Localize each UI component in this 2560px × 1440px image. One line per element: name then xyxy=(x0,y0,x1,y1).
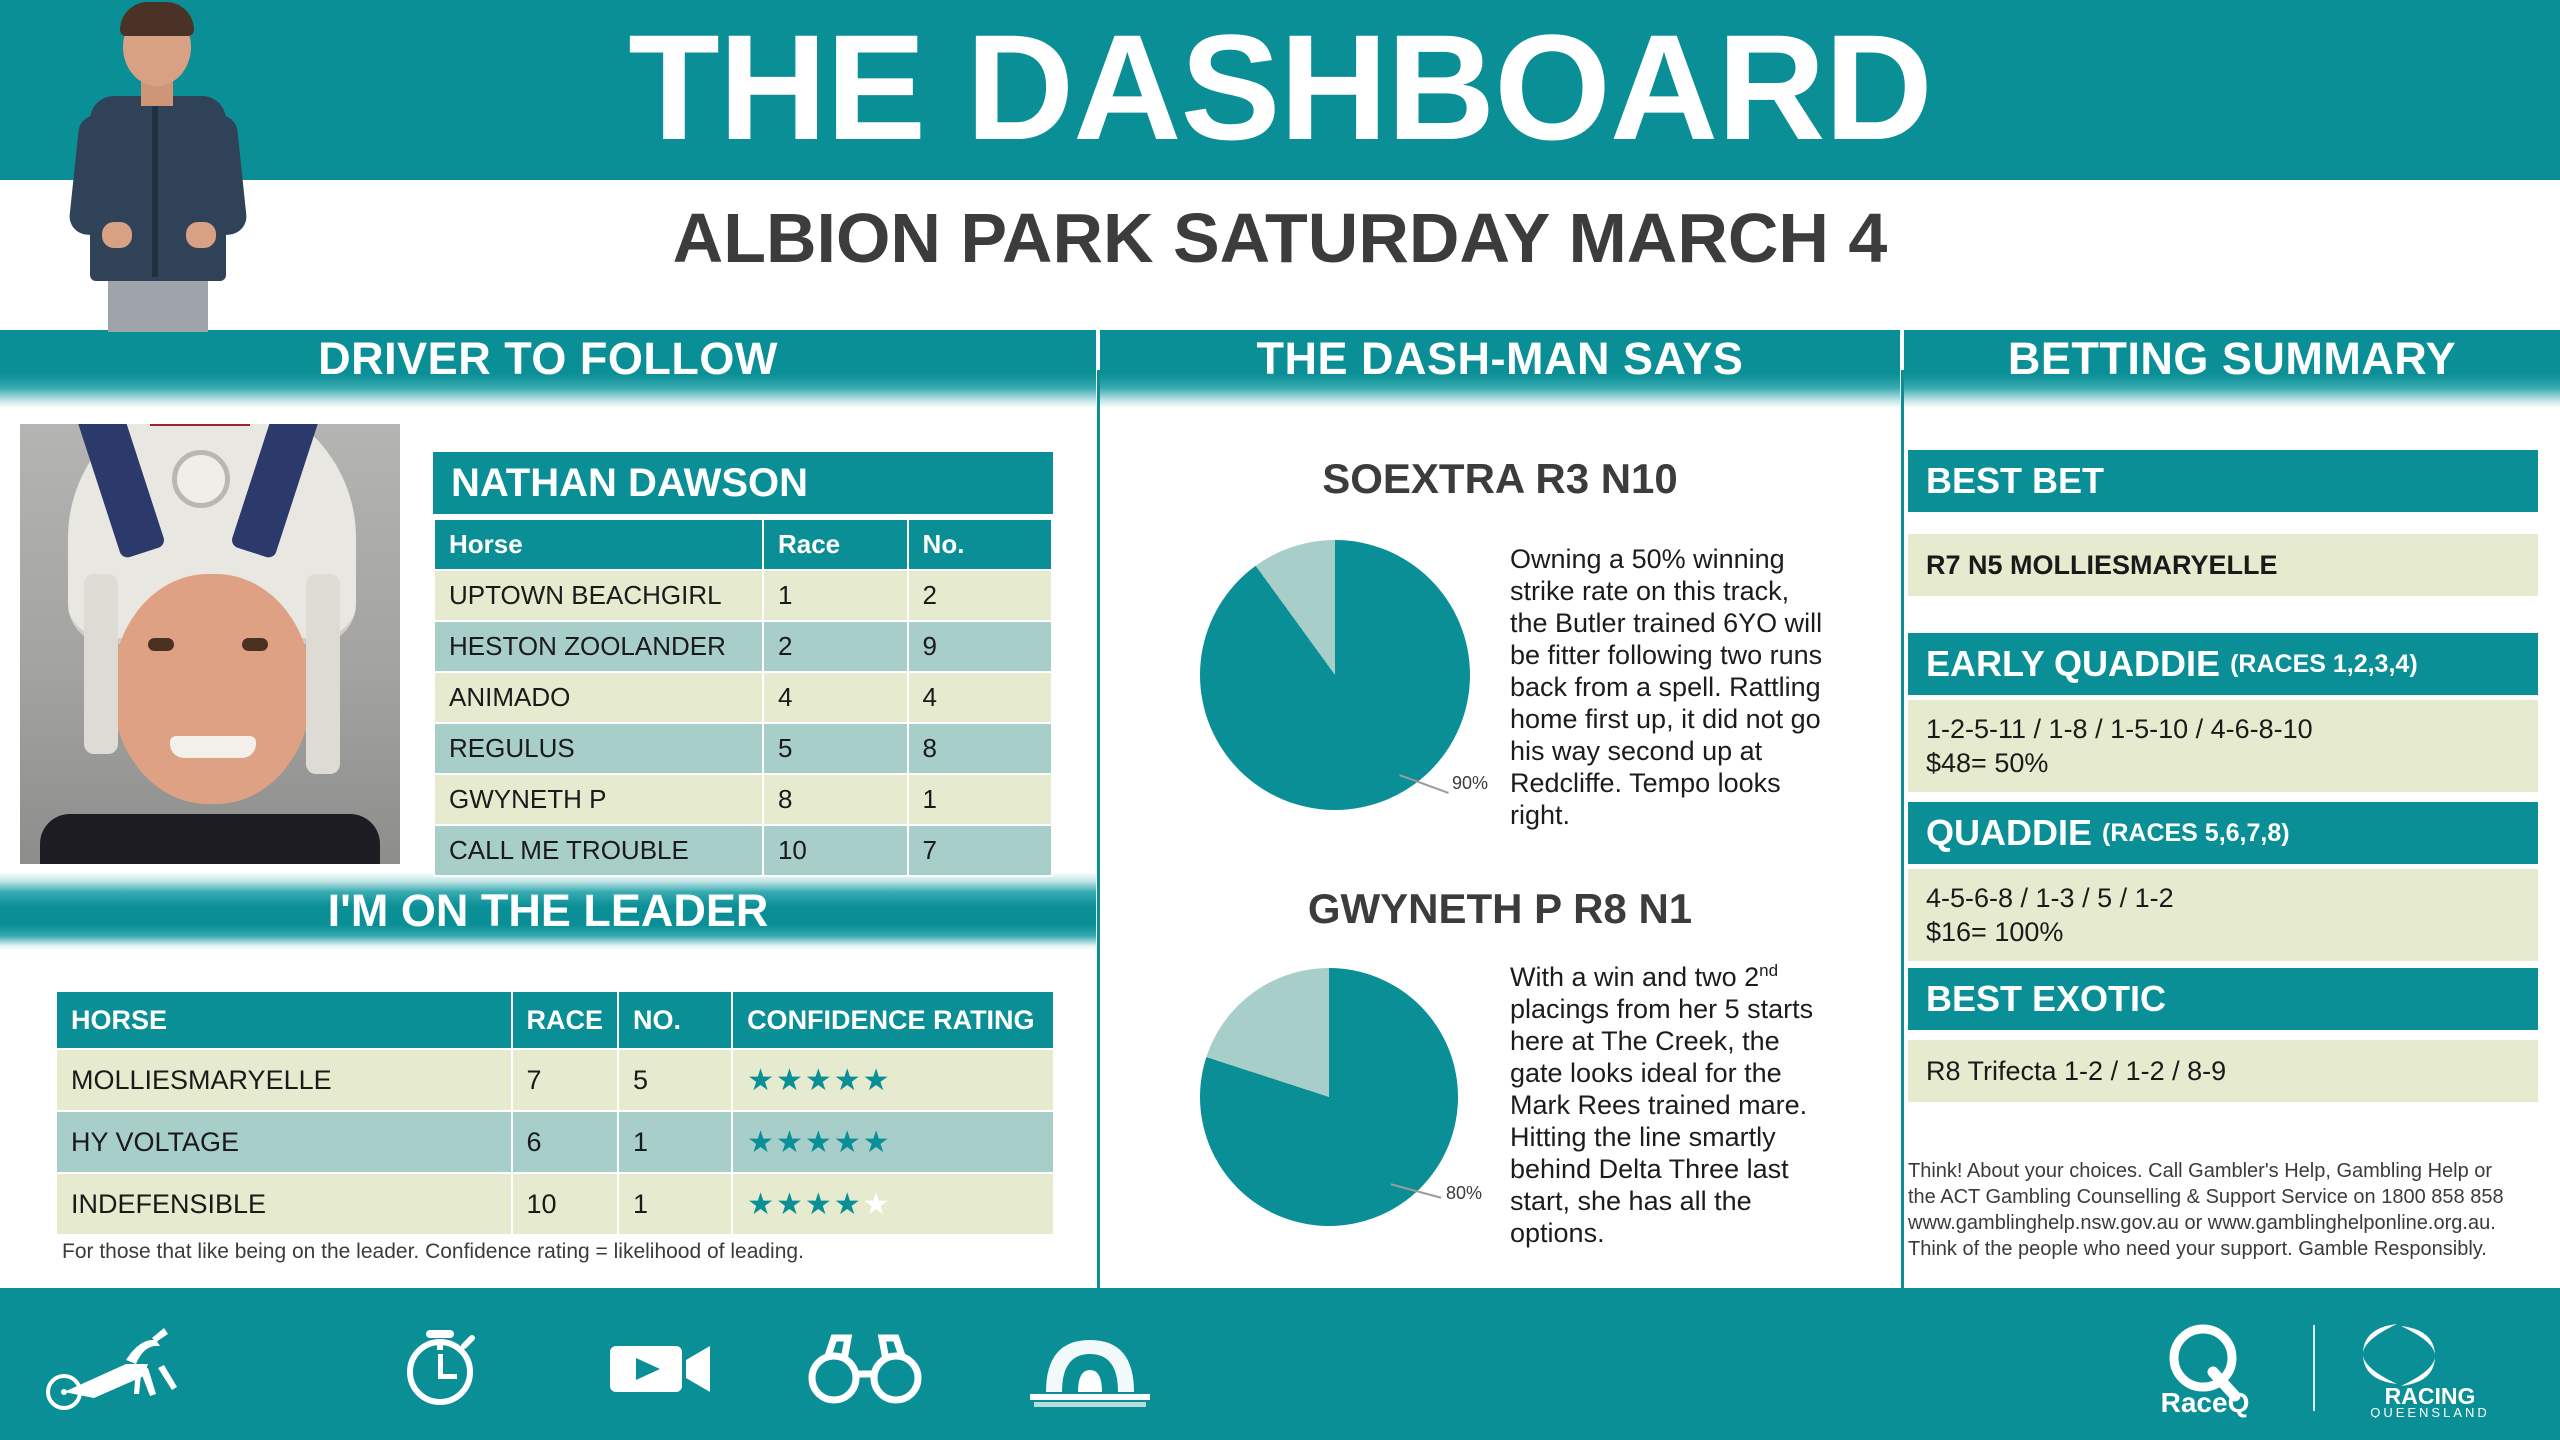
table-row: ANIMADO 4 4 xyxy=(434,672,1052,723)
pie-label-2: 80% xyxy=(1446,1183,1482,1204)
section-driver-to-follow: DRIVER TO FOLLOW xyxy=(0,330,1096,408)
binoculars-icon xyxy=(800,1320,930,1410)
quaddie-label: QUADDIE xyxy=(1926,812,2092,854)
harness-racing-icon xyxy=(40,1320,190,1410)
dashman-text-2: With a win and two 2nd placings from her… xyxy=(1510,955,1832,1249)
driver-horse: REGULUS xyxy=(434,723,763,774)
early-quaddie-line2: $48= 50% xyxy=(1926,746,2538,780)
svg-text:QUEENSLAND: QUEENSLAND xyxy=(2370,1405,2490,1418)
raceq-logo: RaceQ xyxy=(2105,1318,2305,1418)
disclaimer-line-4: Think of the people who need your suppor… xyxy=(1908,1236,2548,1262)
divider-right xyxy=(1901,370,1904,1288)
table-row: CALL ME TROUBLE 10 7 xyxy=(434,825,1052,876)
section-dash-man-says: THE DASH-MAN SAYS xyxy=(1100,330,1900,408)
leader-note: For those that like being on the leader.… xyxy=(62,1240,1062,1264)
driver-photo xyxy=(20,424,400,864)
driver-horse: UPTOWN BEACHGIRL xyxy=(434,570,763,621)
dashman-heading-2: GWYNETH P R8 N1 xyxy=(1120,885,1880,933)
leader-col-horse: HORSE xyxy=(56,991,512,1049)
best-bet-header: BEST BET xyxy=(1908,450,2538,512)
driver-race: 4 xyxy=(763,672,908,723)
early-quaddie-header: EARLY QUADDIE (RACES 1,2,3,4) xyxy=(1908,633,2538,695)
driver-race: 8 xyxy=(763,774,908,825)
leader-horse: MOLLIESMARYELLE xyxy=(56,1049,512,1111)
racing-queensland-logo: RACING QUEENSLAND xyxy=(2323,1318,2538,1418)
driver-horse: HESTON ZOOLANDER xyxy=(434,621,763,672)
early-quaddie-races: (RACES 1,2,3,4) xyxy=(2220,650,2418,679)
dashman-text-2a: With a win and two 2 xyxy=(1510,962,1759,992)
driver-horse: GWYNETH P xyxy=(434,774,763,825)
driver-horse: CALL ME TROUBLE xyxy=(434,825,763,876)
svg-text:RaceQ: RaceQ xyxy=(2161,1387,2250,1418)
page-title: THE DASHBOARD xyxy=(0,0,2560,182)
pie-chart-2 xyxy=(1200,968,1458,1226)
leader-race: 6 xyxy=(512,1111,619,1173)
section-title-betting: BETTING SUMMARY xyxy=(2008,330,2456,385)
table-row: HESTON ZOOLANDER 2 9 xyxy=(434,621,1052,672)
driver-col-no: No. xyxy=(908,519,1052,570)
pie-label-1: 90% xyxy=(1452,773,1488,794)
section-title-dashman: THE DASH-MAN SAYS xyxy=(1257,330,1744,385)
dashman-text-2-sup: nd xyxy=(1759,961,1778,980)
leader-horse: INDEFENSIBLE xyxy=(56,1173,512,1235)
presenter-photo xyxy=(68,0,248,330)
quaddie-header: QUADDIE (RACES 5,6,7,8) xyxy=(1908,802,2538,864)
dashboard-page: THE DASHBOARD ALBION PARK SATURDAY MARCH… xyxy=(0,0,2560,1440)
driver-race: 5 xyxy=(763,723,908,774)
dashman-text-2b: placings from her 5 starts here at The C… xyxy=(1510,994,1813,1248)
leader-table-header: HORSE RACE NO. CONFIDENCE RATING xyxy=(56,991,1054,1049)
grandstand-icon xyxy=(1020,1320,1160,1410)
table-row: MOLLIESMARYELLE 7 5 ★★★★★ xyxy=(56,1049,1054,1111)
driver-table-header: Horse Race No. xyxy=(434,519,1052,570)
video-camera-icon xyxy=(600,1320,720,1410)
driver-no: 1 xyxy=(908,774,1052,825)
driver-race: 2 xyxy=(763,621,908,672)
leader-col-race: RACE xyxy=(512,991,619,1049)
section-betting-summary: BETTING SUMMARY xyxy=(1904,330,2560,408)
early-quaddie-label: EARLY QUADDIE xyxy=(1926,643,2220,685)
table-row: HY VOLTAGE 6 1 ★★★★★ xyxy=(56,1111,1054,1173)
driver-no: 7 xyxy=(908,825,1052,876)
table-row: GWYNETH P 8 1 xyxy=(434,774,1052,825)
driver-col-race: Race xyxy=(763,519,908,570)
best-bet-value: R7 N5 MOLLIESMARYELLE xyxy=(1908,534,2538,596)
driver-race: 10 xyxy=(763,825,908,876)
early-quaddie-value: 1-2-5-11 / 1-8 / 1-5-10 / 4-6-8-10 $48= … xyxy=(1908,700,2538,792)
page-subtitle: ALBION PARK SATURDAY MARCH 4 xyxy=(0,188,2560,288)
leader-no: 1 xyxy=(618,1111,732,1173)
driver-no: 9 xyxy=(908,621,1052,672)
driver-horse: ANIMADO xyxy=(434,672,763,723)
confidence-stars: ★★★★★ xyxy=(747,1126,891,1159)
best-exotic-value: R8 Trifecta 1-2 / 1-2 / 8-9 xyxy=(1908,1040,2538,1102)
table-row: INDEFENSIBLE 10 1 ★★★★★ xyxy=(56,1173,1054,1235)
table-row: REGULUS 5 8 xyxy=(434,723,1052,774)
driver-name: NATHAN DAWSON xyxy=(433,452,1053,514)
early-quaddie-line1: 1-2-5-11 / 1-8 / 1-5-10 / 4-6-8-10 xyxy=(1926,712,2538,746)
confidence-stars: ★★★★★ xyxy=(747,1064,891,1097)
leader-col-no: NO. xyxy=(618,991,732,1049)
quaddie-line1: 4-5-6-8 / 1-3 / 5 / 1-2 xyxy=(1926,881,2538,915)
table-row: UPTOWN BEACHGIRL 1 2 xyxy=(434,570,1052,621)
driver-no: 8 xyxy=(908,723,1052,774)
leader-no: 1 xyxy=(618,1173,732,1235)
disclaimer-line-1: Think! About your choices. Call Gambler'… xyxy=(1908,1158,2548,1184)
quaddie-line2: $16= 100% xyxy=(1926,915,2538,949)
section-title-driver: DRIVER TO FOLLOW xyxy=(318,330,778,385)
leader-race: 7 xyxy=(512,1049,619,1111)
section-title-leader: I'M ON THE LEADER xyxy=(328,885,769,937)
pie-chart-1 xyxy=(1200,540,1470,810)
best-exotic-header: BEST EXOTIC xyxy=(1908,968,2538,1030)
dashman-text-1: Owning a 50% winning strike rate on this… xyxy=(1510,543,1832,831)
section-im-on-the-leader: I'M ON THE LEADER xyxy=(0,872,1096,950)
driver-table: Horse Race No. UPTOWN BEACHGIRL 1 2 HEST… xyxy=(433,518,1053,877)
gambling-disclaimer: Think! About your choices. Call Gambler'… xyxy=(1908,1158,2548,1262)
confidence-stars: ★★★★★ xyxy=(747,1188,891,1221)
stopwatch-icon xyxy=(390,1320,490,1410)
driver-no: 4 xyxy=(908,672,1052,723)
disclaimer-line-3: www.gamblinghelp.nsw.gov.au or www.gambl… xyxy=(1908,1210,2548,1236)
leader-no: 5 xyxy=(618,1049,732,1111)
best-bet-label: BEST BET xyxy=(1926,460,2104,502)
leader-horse: HY VOLTAGE xyxy=(56,1111,512,1173)
leader-race: 10 xyxy=(512,1173,619,1235)
divider-left xyxy=(1097,370,1100,1288)
quaddie-races: (RACES 5,6,7,8) xyxy=(2092,819,2290,848)
logo-divider xyxy=(2313,1325,2315,1411)
leader-table: HORSE RACE NO. CONFIDENCE RATING MOLLIES… xyxy=(55,990,1055,1236)
driver-col-horse: Horse xyxy=(434,519,763,570)
disclaimer-line-2: the ACT Gambling Counselling & Support S… xyxy=(1908,1184,2548,1210)
driver-race: 1 xyxy=(763,570,908,621)
quaddie-value: 4-5-6-8 / 1-3 / 5 / 1-2 $16= 100% xyxy=(1908,869,2538,961)
driver-no: 2 xyxy=(908,570,1052,621)
dashman-heading-1: SOEXTRA R3 N10 xyxy=(1120,455,1880,503)
best-exotic-label: BEST EXOTIC xyxy=(1926,978,2166,1020)
leader-col-confidence: CONFIDENCE RATING xyxy=(732,991,1054,1049)
